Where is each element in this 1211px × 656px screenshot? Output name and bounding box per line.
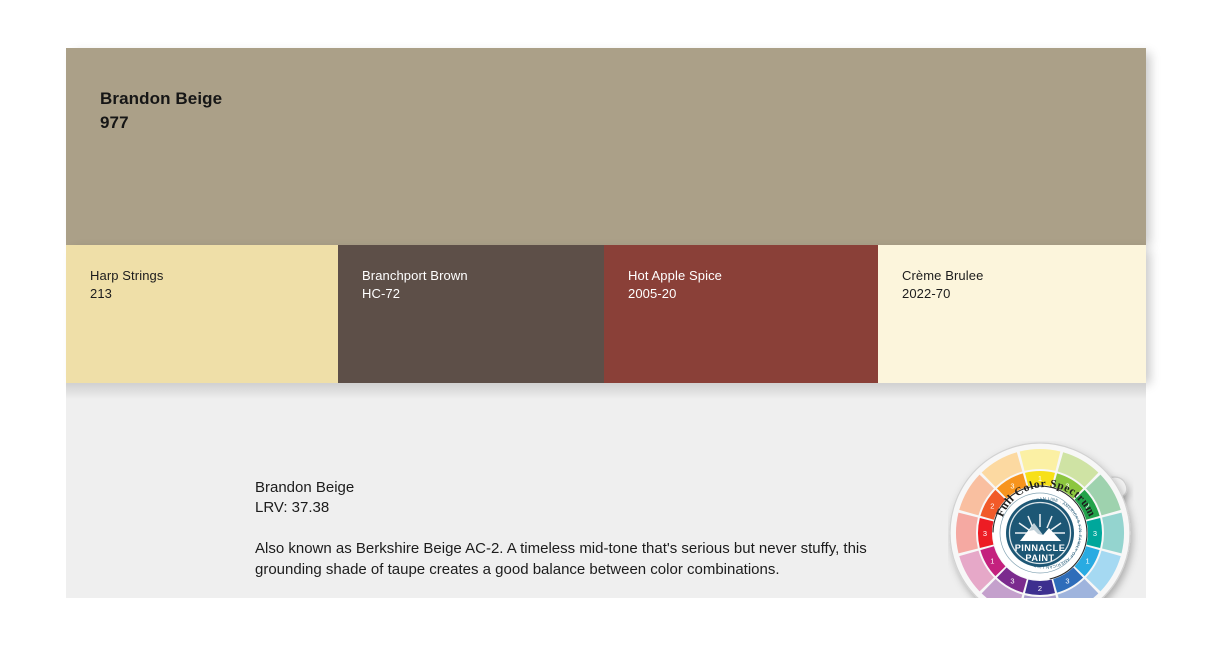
coordinating-swatch[interactable]: Hot Apple Spice2005-20 — [604, 245, 878, 383]
wheel-segment-number: 3 — [1093, 529, 1097, 538]
color-details-text: Brandon Beige LRV: 37.38 Also known as B… — [255, 478, 895, 580]
wheel-segment-number: 2 — [990, 502, 994, 511]
details-description: Also known as Berkshire Beige AC-2. A ti… — [255, 538, 895, 581]
main-color-name: Brandon Beige — [100, 87, 222, 111]
coordinating-swatch-name: Harp Strings — [90, 267, 163, 285]
main-color-code: 977 — [100, 111, 222, 135]
wheel-outer-segment — [956, 513, 978, 554]
coordinating-swatch-name: Crème Brulee — [902, 267, 983, 285]
wheel-segment-number: 1 — [1086, 557, 1090, 566]
coordinating-swatch-code: 2005-20 — [628, 285, 722, 303]
coordinating-swatch-labels: Branchport BrownHC-72 — [362, 267, 468, 303]
wheel-outer-segment — [1102, 513, 1124, 554]
wheel-segment-number: 3 — [983, 529, 987, 538]
coordinating-swatch-code: HC-72 — [362, 285, 468, 303]
color-wheel-logo[interactable]: 132313231323 Full Color Spectrum THE 194… — [948, 441, 1144, 598]
coordinating-swatch[interactable]: Branchport BrownHC-72 — [338, 245, 604, 383]
wheel-segment-number: 2 — [1038, 584, 1042, 593]
coordinating-swatch[interactable]: Crème Brulee2022-70 — [878, 245, 1146, 383]
details-color-name: Brandon Beige — [255, 478, 895, 498]
wheel-segment-number: 3 — [1010, 577, 1014, 586]
color-details-panel: Brandon Beige LRV: 37.38 Also known as B… — [66, 383, 1146, 598]
paint-color-card: Brandon Beige 977 Harp Strings213Branchp… — [66, 48, 1146, 598]
wheel-outer-segment — [1020, 449, 1061, 471]
coordinating-swatch-labels: Crème Brulee2022-70 — [902, 267, 983, 303]
brand-name-line1: PINNACLE — [1015, 543, 1066, 553]
color-wheel-icon: 132313231323 Full Color Spectrum THE 194… — [948, 441, 1144, 598]
coordinating-swatch[interactable]: Harp Strings213 — [66, 245, 338, 383]
details-lrv: LRV: 37.38 — [255, 498, 895, 518]
coordinating-swatch-labels: Harp Strings213 — [90, 267, 163, 303]
wheel-segment-number: 1 — [990, 557, 994, 566]
coordinating-swatch-labels: Hot Apple Spice2005-20 — [628, 267, 722, 303]
coordinating-swatch-code: 213 — [90, 285, 163, 303]
coordinating-swatch-code: 2022-70 — [902, 285, 983, 303]
coordinating-swatch-name: Hot Apple Spice — [628, 267, 722, 285]
coordinating-swatch-name: Branchport Brown — [362, 267, 468, 285]
main-color-swatch[interactable]: Brandon Beige 977 — [66, 48, 1146, 245]
coordinating-colors-row: Harp Strings213Branchport BrownHC-72Hot … — [66, 245, 1146, 383]
brand-name-line2: PAINT — [1025, 553, 1054, 563]
main-color-labels: Brandon Beige 977 — [100, 87, 222, 135]
wheel-segment-number: 3 — [1065, 577, 1069, 586]
